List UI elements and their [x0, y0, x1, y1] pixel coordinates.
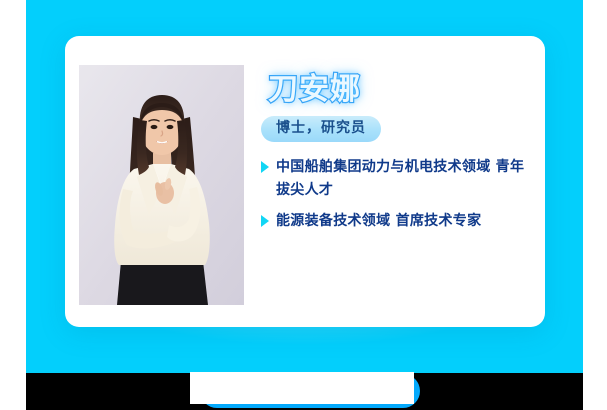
triangle-bullet-icon: [261, 215, 269, 227]
badge-row: 博士，研究员: [261, 116, 533, 142]
credentials-list: 中国船舶集团动力与机电技术领域 青年拔尖人才 能源装备技术领域 首席技术专家: [261, 156, 533, 233]
bottom-white-strip: [190, 372, 414, 404]
credential-text: 中国船舶集团动力与机电技术领域 青年拔尖人才: [276, 156, 533, 202]
profile-name: 刀安娜: [268, 75, 533, 105]
triangle-bullet-icon: [261, 161, 269, 173]
list-item: 能源装备技术领域 首席技术专家: [261, 210, 533, 233]
list-item: 中国船舶集团动力与机电技术领域 青年拔尖人才: [261, 156, 533, 202]
credential-text: 能源装备技术领域 首席技术专家: [276, 210, 481, 233]
portrait-photo: [79, 65, 244, 305]
portrait-illustration: [79, 65, 244, 305]
profile-card-inner: 刀安娜 博士，研究员 中国船舶集团动力与机电技术领域 青年拔尖人才 能源装备技术…: [65, 36, 545, 327]
profile-card: 刀安娜 博士，研究员 中国船舶集团动力与机电技术领域 青年拔尖人才 能源装备技术…: [65, 36, 545, 327]
profile-info: 刀安娜 博士，研究员 中国船舶集团动力与机电技术领域 青年拔尖人才 能源装备技术…: [261, 66, 533, 315]
status-badge: 博士，研究员: [261, 116, 381, 142]
profile-banner-stage: 刀安娜 博士，研究员 中国船舶集团动力与机电技术领域 青年拔尖人才 能源装备技术…: [0, 0, 607, 410]
